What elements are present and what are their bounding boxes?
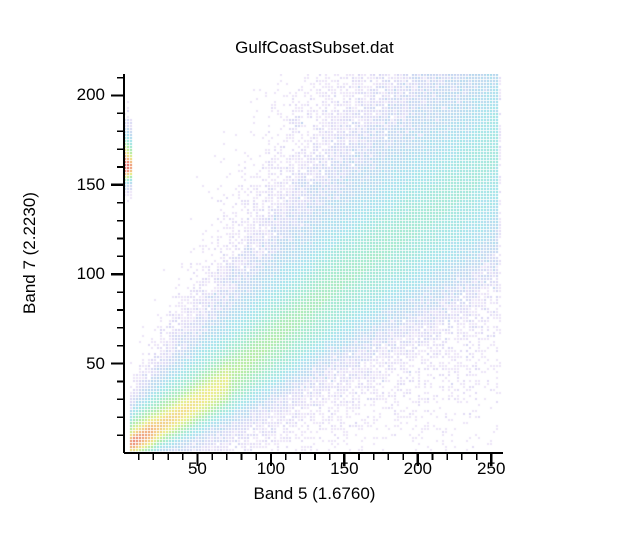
- y-tick-label: 150: [59, 175, 105, 195]
- x-tick-label: 250: [477, 459, 505, 479]
- x-tick-label: 50: [188, 459, 207, 479]
- scatter-plot-page: GulfCoastSubset.dat Band 5 (1.6760) Band…: [0, 0, 629, 551]
- x-tick-label: 100: [257, 459, 285, 479]
- y-tick-label: 50: [59, 354, 105, 374]
- y-tick-label: 100: [59, 264, 105, 284]
- x-tick-label: 200: [404, 459, 432, 479]
- x-axis-title: Band 5 (1.6760): [0, 484, 629, 504]
- y-tick-label: 200: [59, 85, 105, 105]
- x-tick-label: 150: [330, 459, 358, 479]
- y-axis-title: Band 7 (2.2230): [20, 153, 40, 353]
